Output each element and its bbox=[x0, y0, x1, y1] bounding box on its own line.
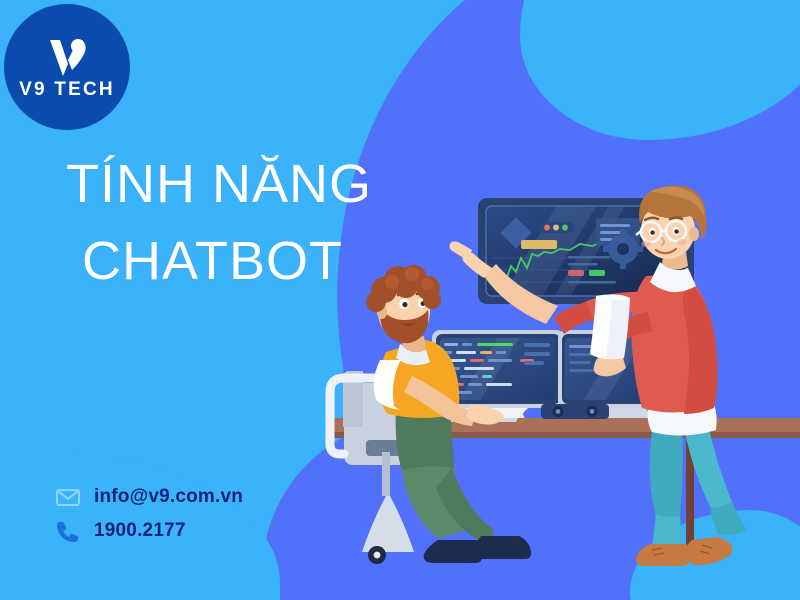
paper-sheet bbox=[590, 294, 630, 359]
page-title-line1: TÍNH NĂNG bbox=[66, 154, 372, 214]
poster-canvas: V9 TECH TÍNH NĂNG CHATBOT info@v9.com.vn… bbox=[0, 0, 800, 600]
contact-info: info@v9.com.vn 1900.2177 bbox=[56, 480, 243, 548]
v9-checkmark-logo-icon bbox=[44, 36, 90, 78]
contact-row-phone[interactable]: 1900.2177 bbox=[56, 514, 243, 548]
brand-logo[interactable]: V9 TECH bbox=[4, 4, 130, 130]
page-title-line2: CHATBOT bbox=[66, 223, 372, 300]
soundbar-speaker bbox=[541, 404, 609, 419]
contact-phone-text: 1900.2177 bbox=[94, 520, 186, 542]
shoes bbox=[636, 537, 732, 566]
page-title: TÍNH NĂNG CHATBOT bbox=[66, 146, 372, 299]
contact-email-text: info@v9.com.vn bbox=[94, 486, 243, 508]
envelope-icon bbox=[56, 489, 86, 506]
shoes bbox=[424, 536, 531, 563]
brand-logo-text: V9 TECH bbox=[19, 80, 115, 99]
phone-icon bbox=[56, 520, 86, 542]
contact-row-email[interactable]: info@v9.com.vn bbox=[56, 480, 243, 514]
